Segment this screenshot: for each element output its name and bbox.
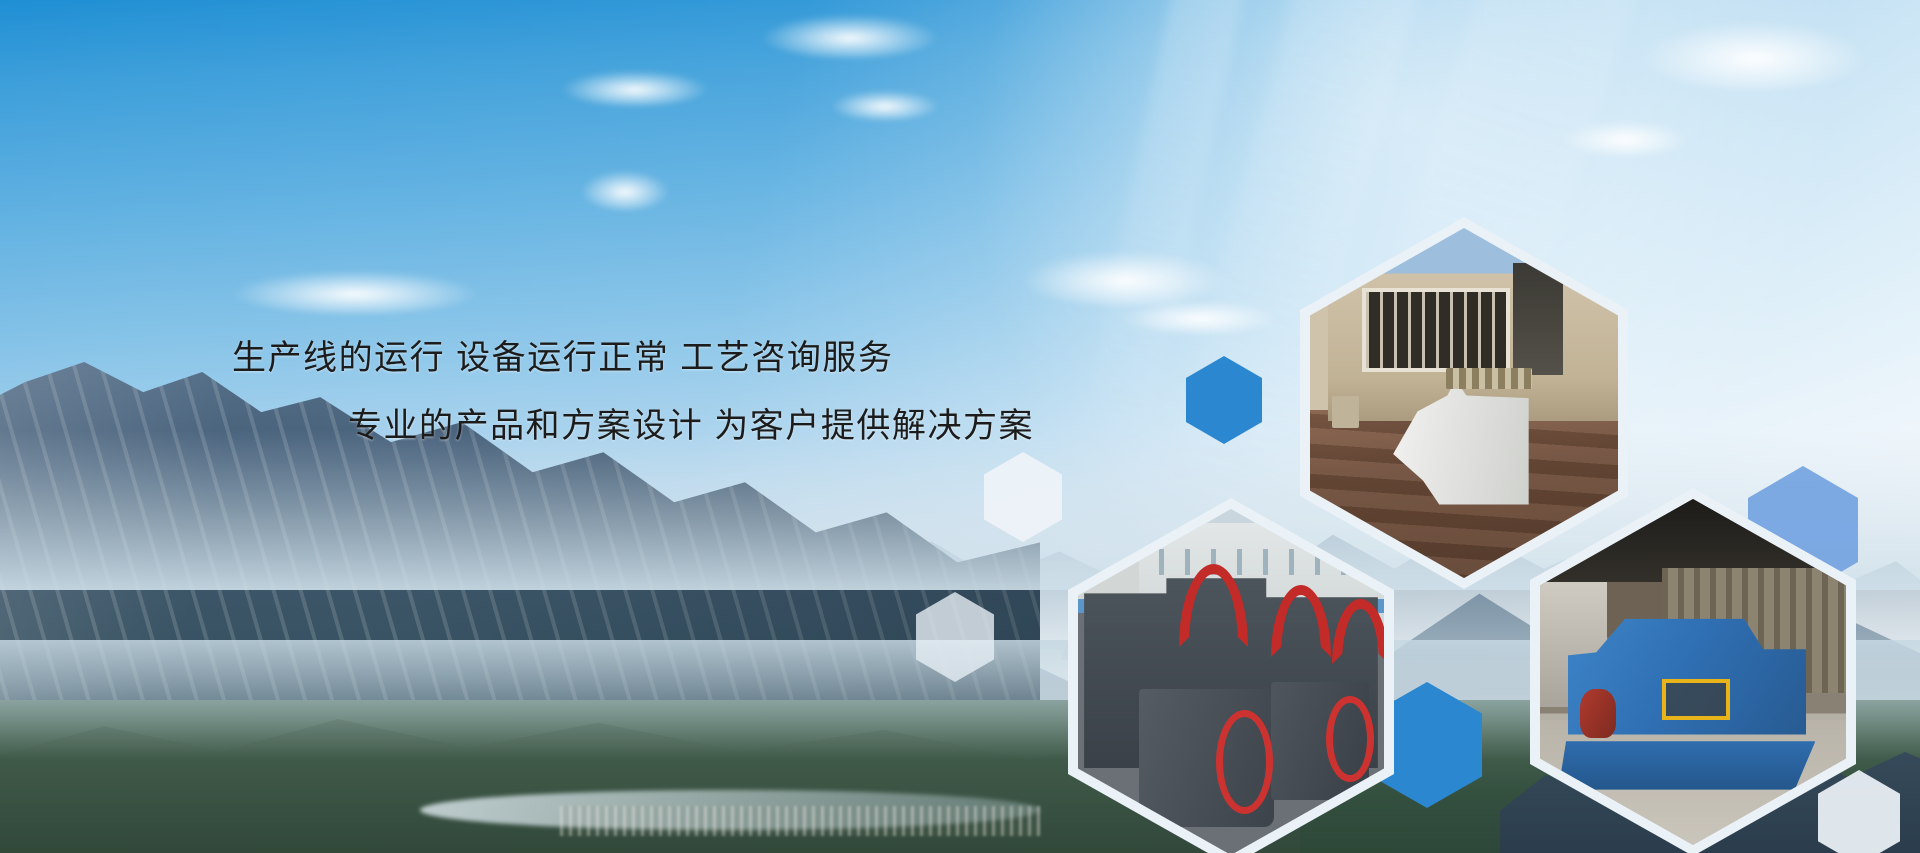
photo-hex-top-image [1310,228,1618,578]
photo-right-shredder-base [1558,741,1815,789]
headline-line-1: 生产线的运行 设备运行正常 工艺咨询服务 [232,330,894,379]
cloud-3 [830,90,940,120]
photo-right-content [1540,499,1846,845]
hero-banner: 生产线的运行 设备运行正常 工艺咨询服务 专业的产品和方案设计 为客户提供解决方… [0,0,1920,853]
photo-left-handwheel-2 [1326,696,1374,783]
cloud-6 [1560,120,1690,156]
cloud-9 [1120,300,1280,334]
cloud-1 [760,14,940,58]
cloud-7 [230,270,480,314]
photo-right-motor [1580,689,1617,737]
photo-top-window-side [1513,263,1562,375]
photo-left-handwheel-1 [1216,710,1273,814]
cloud-5 [1640,20,1870,90]
photo-top-content [1310,228,1618,578]
headline-line-2: 专业的产品和方案设计 为客户提供解决方案 [348,398,1034,447]
cloud-8 [1020,250,1230,306]
photo-top-window [1362,288,1510,372]
photo-top-drum [1332,396,1360,428]
cloud-2 [560,70,710,106]
photo-hex-left-image [1078,509,1384,853]
town-cluster [560,806,1040,836]
photo-hex-right-image [1540,499,1846,845]
photo-right-yellow-guard [1662,679,1729,721]
photo-left-content [1078,509,1384,853]
cloud-4 [580,170,670,210]
photo-top-flange [1446,368,1532,389]
